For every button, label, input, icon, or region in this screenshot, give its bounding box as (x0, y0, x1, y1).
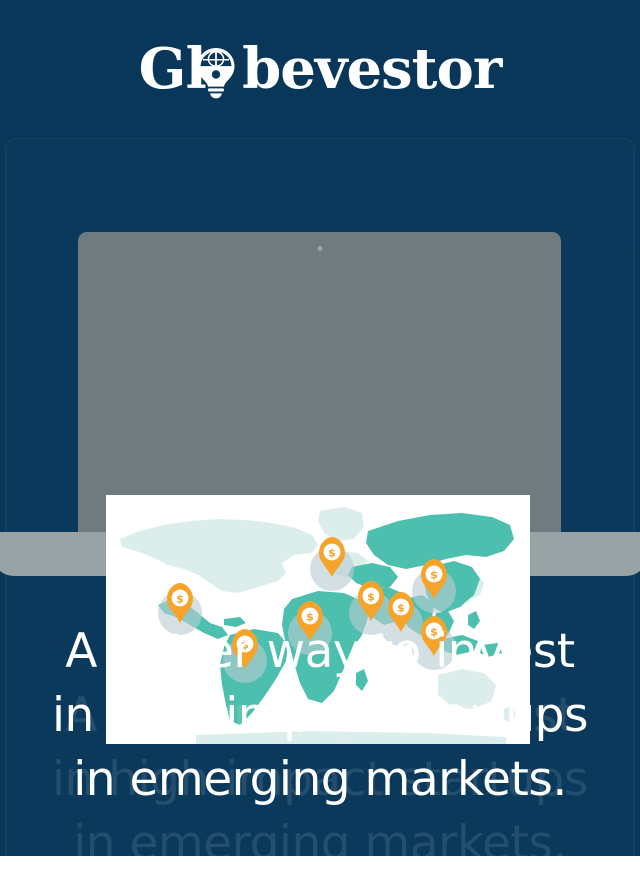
svg-text:$: $ (328, 547, 336, 560)
site-header: Globevestor (0, 0, 640, 138)
logo-prefix: Gl (139, 36, 206, 102)
svg-text:$: $ (176, 593, 184, 606)
laptop-camera-dot (317, 246, 322, 251)
svg-text:$: $ (430, 569, 438, 582)
laptop-illustration: $ $ $ $ (0, 232, 640, 552)
brand-logo[interactable]: Globevestor (139, 33, 502, 105)
landing-page: Globevestor (0, 0, 640, 883)
svg-text:$: $ (397, 602, 405, 615)
laptop-lid (78, 232, 561, 534)
svg-text:$: $ (367, 591, 375, 604)
brand-logo-text: Globevestor (139, 41, 502, 97)
logo-suffix: bevestor (242, 36, 501, 102)
hero-headline-block: A better way to invest in high-impact st… (0, 620, 640, 812)
hero-headline: A better way to invest in high-impact st… (0, 620, 640, 812)
